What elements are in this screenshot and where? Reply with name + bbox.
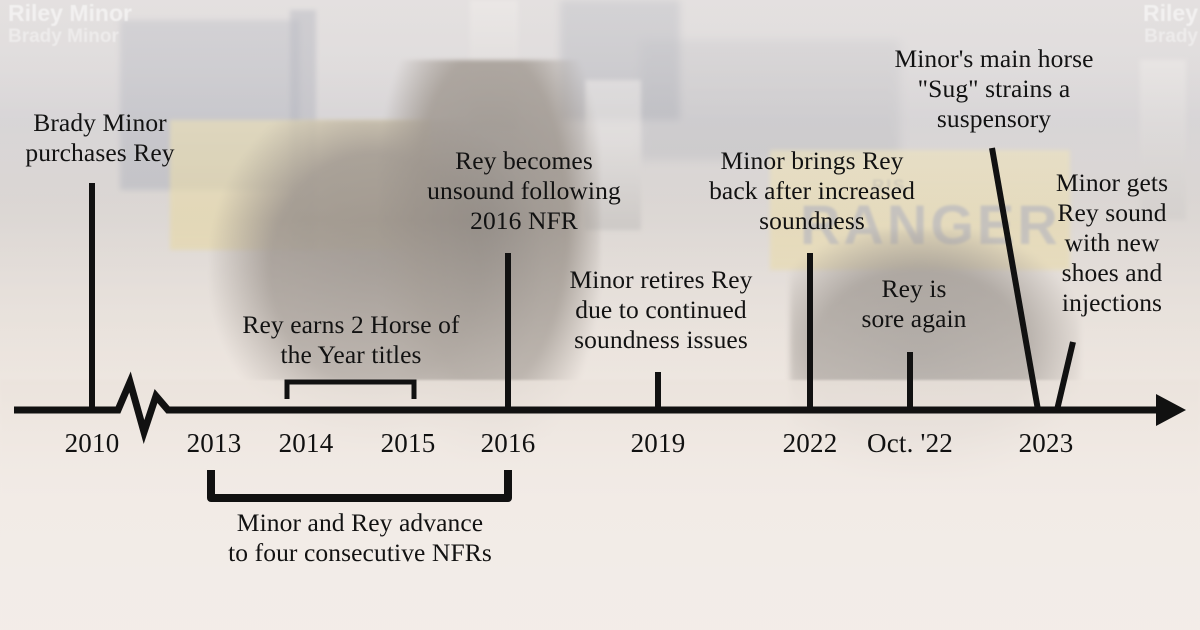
event-callout-horse-of-year: Rey earns 2 Horse of the Year titles <box>215 310 487 370</box>
event-callout-retires: Minor retires Rey due to continued sound… <box>538 265 784 355</box>
axis-arrow-icon <box>1156 394 1186 426</box>
timeline-axis <box>14 382 1186 432</box>
event-callout-sore-again: Rey is sore again <box>840 274 988 334</box>
axis-line <box>14 382 1160 432</box>
event-callout-purchase: Brady Minor purchases Rey <box>10 108 190 168</box>
event-callout-four-nfrs: Minor and Rey advance to four consecutiv… <box>185 508 535 568</box>
event-callout-sug-suspensory: Minor's main horse "Sug" strains a suspe… <box>866 44 1122 134</box>
event-callout-unsound-2016: Rey becomes unsound following 2016 NFR <box>404 146 644 236</box>
axis-label-2023: 2023 <box>956 428 1136 459</box>
event-callout-new-shoes: Minor gets Rey sound with new shoes and … <box>1030 168 1194 318</box>
timeline-infographic: RIS RANGER Riley Minor Brady Minor Riley… <box>0 0 1200 630</box>
bracket-horse-of-year <box>287 382 414 399</box>
event-callout-brings-back: Minor brings Rey back after increased so… <box>686 146 938 236</box>
bracket-four-nfrs <box>211 470 508 498</box>
connector-new-shoes <box>1057 342 1073 410</box>
